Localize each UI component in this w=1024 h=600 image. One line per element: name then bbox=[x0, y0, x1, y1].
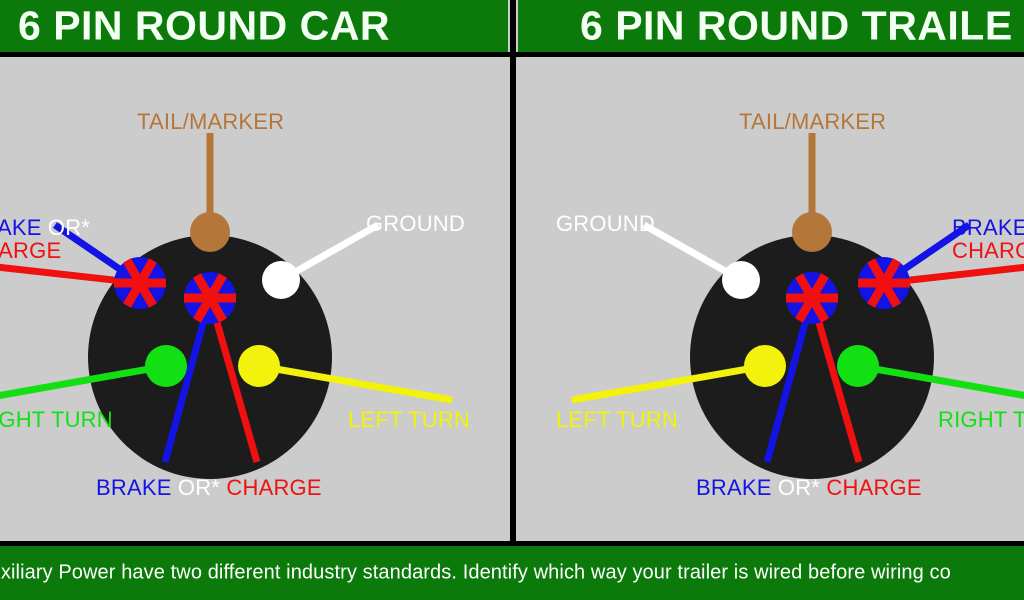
pin-brake-charge-upper-car[interactable] bbox=[114, 257, 166, 309]
label-tail-marker-trailer: TAIL/MARKER bbox=[739, 110, 886, 133]
footer-note-band: and Auxiliary Power have two different i… bbox=[0, 546, 1024, 600]
label-brake-upper-car: BRAKE bbox=[0, 215, 42, 240]
pin-left-turn-car[interactable] bbox=[238, 345, 280, 387]
label-brake-upper-trailer: BRAKE bbox=[952, 215, 1024, 240]
panel-title-trailer: 6 PIN ROUND TRAILE bbox=[580, 6, 1013, 47]
label-brake-lower-car: BRAKE bbox=[96, 475, 172, 500]
label-charge-lower-car: CHARGE bbox=[226, 475, 321, 500]
label-right-turn-car: RIGHT TURN bbox=[0, 408, 113, 431]
label-brake-or-charge-upper-car: BRAKE OR* CHARGE bbox=[0, 216, 90, 262]
label-brake-or-charge-lower-trailer: BRAKE OR* CHARGE bbox=[696, 476, 922, 499]
footer-note-text: and Auxiliary Power have two different i… bbox=[0, 562, 951, 585]
label-brake-or-charge-lower-car: BRAKE OR* CHARGE bbox=[96, 476, 322, 499]
label-ground-car: GROUND bbox=[366, 212, 465, 235]
wiring-diagram-page: 6 PIN ROUND CAR 6 PIN ROUND TRAILE bbox=[0, 0, 1024, 600]
panel-title-car: 6 PIN ROUND CAR bbox=[18, 6, 390, 47]
pin-ground-car[interactable] bbox=[262, 261, 300, 299]
pin-tail-marker-car[interactable] bbox=[190, 212, 230, 252]
panel-header-trailer: 6 PIN ROUND TRAILE bbox=[518, 0, 1024, 52]
pin-brake-charge-lower-car[interactable] bbox=[184, 272, 236, 324]
label-or-lower-car: OR* bbox=[178, 475, 220, 500]
pin-right-turn-trailer[interactable] bbox=[837, 345, 879, 387]
pin-ground-trailer[interactable] bbox=[722, 261, 760, 299]
panel-header-car: 6 PIN ROUND CAR bbox=[0, 0, 508, 52]
label-charge-lower-trailer: CHARGE bbox=[826, 475, 921, 500]
label-tail-marker-car: TAIL/MARKER bbox=[137, 110, 284, 133]
pin-brake-charge-upper-trailer[interactable] bbox=[858, 257, 910, 309]
pin-tail-marker-trailer[interactable] bbox=[792, 212, 832, 252]
label-brake-lower-trailer: BRAKE bbox=[696, 475, 772, 500]
pin-right-turn-car[interactable] bbox=[145, 345, 187, 387]
label-charge-upper-trailer: CHARGE bbox=[952, 238, 1024, 263]
label-charge-upper-car: CHARGE bbox=[0, 238, 61, 263]
label-brake-charge-upper-trailer: BRAKE CHARGE bbox=[952, 216, 1024, 262]
label-right-turn-trailer: RIGHT T bbox=[938, 408, 1024, 431]
label-or-upper-car: OR* bbox=[48, 215, 90, 240]
pin-brake-charge-lower-trailer[interactable] bbox=[786, 272, 838, 324]
label-left-turn-car: LEFT TURN bbox=[348, 408, 470, 431]
label-left-turn-trailer: LEFT TURN bbox=[556, 408, 678, 431]
label-ground-trailer: GROUND bbox=[556, 212, 655, 235]
label-or-lower-trailer: OR* bbox=[778, 475, 820, 500]
pin-left-turn-trailer[interactable] bbox=[744, 345, 786, 387]
